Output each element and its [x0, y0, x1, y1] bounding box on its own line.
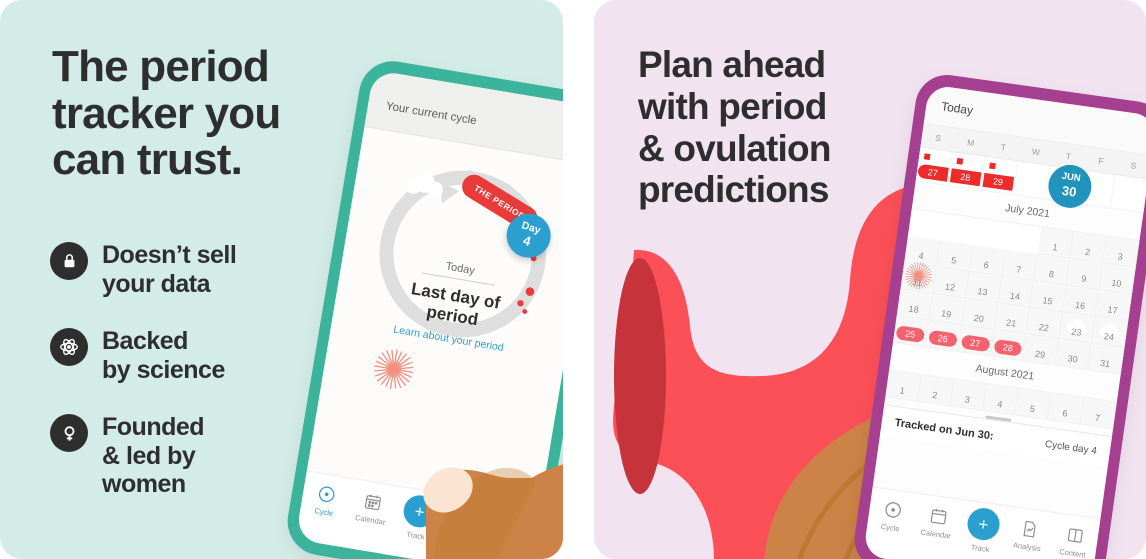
- calendar-day-cell[interactable]: 2: [918, 375, 954, 406]
- nav-item-cycle[interactable]: Cycle: [300, 481, 352, 520]
- calendar-day-number: 16: [1074, 300, 1085, 311]
- calendar-day-number: 31: [1100, 358, 1111, 369]
- calendar-day-cell[interactable]: 7: [1080, 398, 1116, 429]
- weekday-label: W: [1018, 138, 1054, 165]
- calendar-day-number: 10: [1111, 278, 1122, 289]
- weekday-label: S: [1116, 151, 1146, 178]
- calendar-day-number: 8: [1048, 269, 1054, 280]
- calendar-day-cell[interactable]: 4: [983, 384, 1019, 415]
- calendar-day-number: 4: [997, 399, 1003, 410]
- lock-icon: [50, 242, 88, 280]
- calendar-day-number: 1: [1052, 242, 1058, 253]
- bottom-navigation: Cycle Calendar +: [295, 470, 539, 559]
- period-day-pill: 27: [917, 164, 949, 182]
- calendar-day-number: 4: [918, 251, 924, 262]
- period-day-pill: 29: [982, 173, 1014, 191]
- nav-item-track[interactable]: + Track: [957, 510, 1008, 556]
- calendar-day-cell[interactable]: 27: [958, 325, 994, 356]
- feature-list: Doesn’t sell your data Backed by science: [50, 240, 330, 527]
- weekday-label: T: [986, 133, 1022, 160]
- calendar-day-number: 2: [1084, 247, 1090, 258]
- calendar-day-cell[interactable]: 6: [1048, 393, 1084, 424]
- period-flow-marker: [956, 158, 963, 165]
- calendar-day-cell[interactable]: 5: [1015, 389, 1051, 420]
- calendar-day-number: 5: [1029, 404, 1035, 415]
- promo-panel-right: Plan ahead with period & ovulation predi…: [594, 0, 1146, 559]
- calendar-day-cell[interactable]: [1111, 175, 1146, 213]
- cycle-icon: [882, 499, 903, 520]
- calendar-day-cell[interactable]: 28: [991, 330, 1027, 361]
- calendar-months: July 20211234567891011121314151617181920…: [885, 181, 1143, 429]
- calendar-day-cell[interactable]: 30: [1056, 339, 1092, 370]
- bottom-navigation: Cycle Calendar + Track: [863, 486, 1101, 559]
- calendar-day-number: 6: [1062, 408, 1068, 419]
- nav-label: Cycle: [314, 506, 334, 518]
- nav-label: Track: [406, 530, 426, 542]
- calendar-day-number: 20: [973, 313, 984, 324]
- calendar-day-cell[interactable]: 3: [950, 380, 986, 411]
- weekday-label: F: [1083, 147, 1119, 174]
- calendar-day-number: 3: [964, 394, 970, 405]
- phone-screen-cycle: Your current cycle: [295, 70, 563, 559]
- feature-item-women-led: Founded & led by women: [50, 412, 330, 499]
- calendar-day-cell[interactable]: 28: [948, 152, 985, 190]
- nav-item-calendar[interactable]: Calendar: [912, 504, 962, 542]
- calendar-day-number: 7: [1016, 264, 1022, 275]
- cycle-day-label: Cycle day 4: [1044, 439, 1097, 457]
- nav-item-cycle[interactable]: Cycle: [867, 497, 917, 535]
- calendar-day-cell[interactable]: 29: [1023, 334, 1059, 365]
- venus-icon: [50, 414, 88, 452]
- phone-mockup-calendar: Today SMTWTFS 272829 JUN 30 July 2021123…: [850, 71, 1146, 559]
- nav-item-analysis[interactable]: Analysis: [439, 504, 491, 543]
- calendar-day-cell[interactable]: [1013, 161, 1050, 199]
- feature-item-label: Founded & led by women: [102, 412, 204, 499]
- calendar-icon: [927, 506, 948, 527]
- nav-label: Analysis: [1012, 540, 1041, 553]
- calendar-day-number: 6: [983, 260, 989, 271]
- calendar-day-number: 21: [1006, 317, 1017, 328]
- calendar-icon: [362, 491, 384, 513]
- predicted-period-pill: 25: [895, 325, 925, 343]
- calendar-day-number: 1: [899, 385, 905, 396]
- calendar-day-number: 5: [951, 255, 957, 266]
- book-icon: [1064, 525, 1085, 546]
- phone-mockup-cycle: Your current cycle: [283, 56, 563, 559]
- cycle-icon: [316, 483, 338, 505]
- calendar-day-number: 23: [1071, 327, 1082, 338]
- phone-screen-calendar: Today SMTWTFS 272829 JUN 30 July 2021123…: [863, 84, 1146, 559]
- plus-icon[interactable]: +: [401, 493, 438, 530]
- weekday-label: S: [920, 124, 956, 151]
- feature-item-label: Doesn’t sell your data: [102, 240, 236, 298]
- calendar-day-number: 14: [1009, 291, 1020, 302]
- book-icon: [502, 515, 524, 537]
- calendar-day-number: 30: [1067, 353, 1078, 364]
- predicted-period-pill: 28: [993, 339, 1023, 357]
- predicted-period-pill: 26: [928, 330, 958, 348]
- calendar-day-number: 18: [908, 304, 919, 315]
- calendar-day-cell[interactable]: 29: [981, 157, 1018, 195]
- topbar-title: Your current cycle: [385, 100, 477, 127]
- period-day-pill: 28: [950, 168, 982, 186]
- feature-item-label: Backed by science: [102, 326, 225, 384]
- page-title: Plan ahead with period & ovulation predi…: [638, 44, 831, 211]
- calendar-day-number: 9: [1081, 273, 1087, 284]
- feature-item-privacy: Doesn’t sell your data: [50, 240, 330, 298]
- analysis-icon: [1019, 518, 1040, 539]
- nav-item-calendar[interactable]: Calendar: [346, 489, 398, 528]
- nav-label: Calendar: [355, 513, 387, 527]
- nav-label: Cycle: [880, 522, 900, 534]
- calendar-day-number: 3: [1117, 251, 1123, 262]
- cycle-day-number: 4: [521, 233, 532, 249]
- period-flow-marker: [989, 162, 996, 169]
- app-store-screenshot-pair: The period tracker you can trust. Doesn’…: [0, 0, 1146, 559]
- predicted-period-pill: 27: [961, 334, 991, 352]
- calendar-day-cell[interactable]: 31: [1088, 343, 1124, 374]
- weekday-label: M: [953, 128, 989, 155]
- nav-item-content[interactable]: Content: [486, 512, 538, 551]
- calendar-day-number: 19: [941, 308, 952, 319]
- calendar-day-cell[interactable]: 25: [893, 316, 929, 347]
- topbar-title: Today: [940, 99, 974, 117]
- today-day: 30: [1061, 183, 1078, 201]
- nav-label: Content: [1059, 547, 1086, 559]
- calendar-day-number: 29: [1034, 349, 1045, 360]
- calendar-day-number: 11: [912, 277, 923, 288]
- nav-label: Calendar: [920, 528, 951, 541]
- calendar-day-number: 12: [944, 282, 955, 293]
- ovulation-sunburst-icon: [368, 344, 419, 395]
- atom-icon: [50, 328, 88, 366]
- page-title: The period tracker you can trust.: [52, 44, 280, 184]
- calendar-day-cell[interactable]: 27: [916, 148, 953, 186]
- calendar-day-number: 22: [1038, 322, 1049, 333]
- analysis-icon: [455, 507, 477, 529]
- period-flow-marker: [924, 153, 931, 160]
- calendar-day-cell[interactable]: 26: [925, 321, 961, 352]
- tracked-label: Tracked on Jun 30:: [894, 417, 994, 443]
- nav-label: Analysis: [449, 529, 478, 542]
- nav-item-analysis[interactable]: Analysis: [1003, 516, 1053, 554]
- nav-item-track[interactable]: + Track: [392, 497, 445, 544]
- nav-label: Content: [496, 537, 523, 550]
- nav-item-content[interactable]: Content: [1049, 523, 1099, 559]
- calendar-day-number: 24: [1103, 331, 1114, 342]
- plus-icon[interactable]: +: [965, 506, 1001, 542]
- calendar-day-cell[interactable]: 1: [885, 370, 921, 401]
- calendar-day-number: 15: [1042, 295, 1053, 306]
- promo-panel-left: The period tracker you can trust. Doesn’…: [0, 0, 563, 559]
- calendar-day-number: 13: [977, 286, 988, 297]
- cycle-ring-area: THE PERIOD Day 4 Today Last day of perio…: [315, 127, 563, 462]
- calendar-day-number: 7: [1094, 413, 1100, 424]
- calendar-day-number: 2: [932, 390, 938, 401]
- feature-item-science: Backed by science: [50, 326, 330, 384]
- nav-label: Track: [970, 543, 990, 554]
- calendar-day-number: 17: [1107, 304, 1118, 315]
